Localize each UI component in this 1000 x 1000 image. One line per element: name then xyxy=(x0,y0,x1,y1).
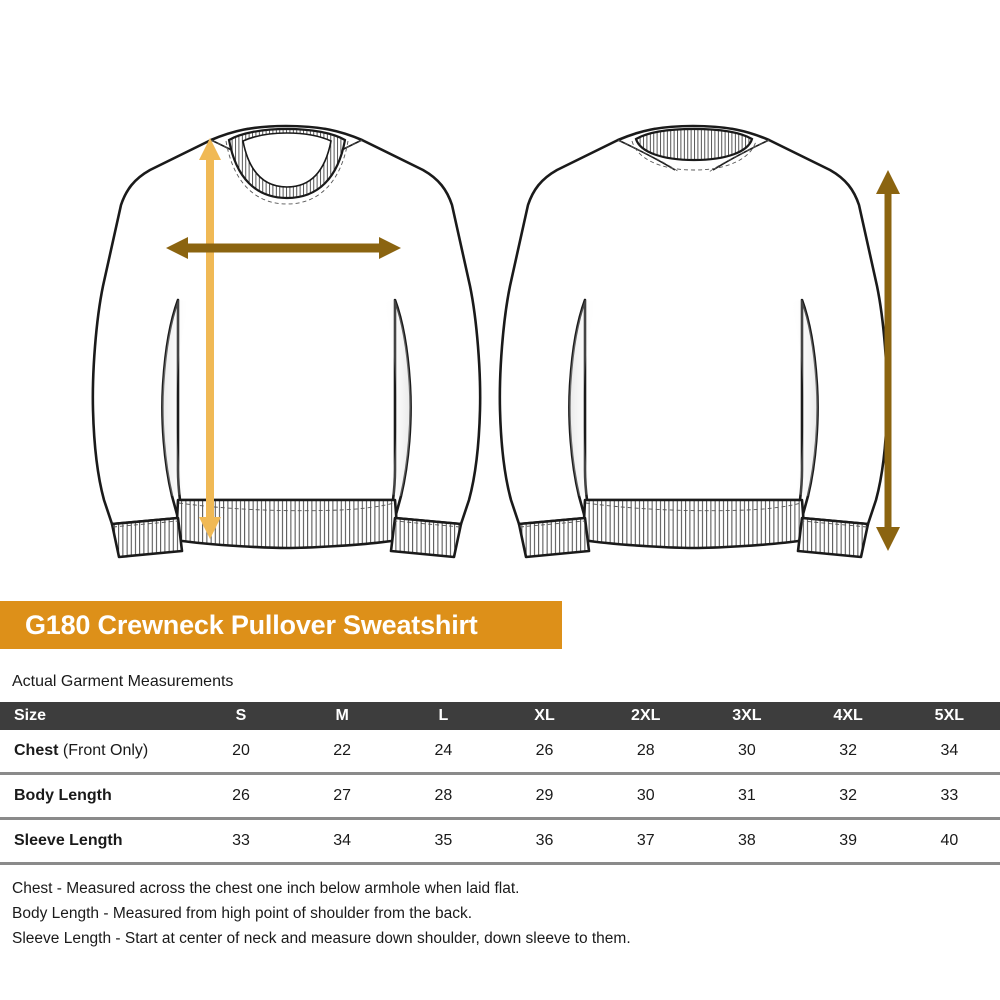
page-title: G180 Crewneck Pullover Sweatshirt xyxy=(0,610,478,641)
cell-body-2xl: 30 xyxy=(595,774,696,819)
note-body-length: Body Length - Measured from high point o… xyxy=(12,901,982,926)
sweatshirt-back-view xyxy=(500,126,887,557)
row-label-sleeve-length-name: Sleeve Length xyxy=(14,832,122,849)
sweatshirt-front-view xyxy=(93,126,480,557)
cell-sleeve-3xl: 38 xyxy=(696,819,797,864)
column-header-s: S xyxy=(190,702,291,730)
table-row: Chest (Front Only) 20 22 24 26 28 30 32 … xyxy=(0,730,1000,774)
cell-chest-3xl: 30 xyxy=(696,730,797,774)
column-header-xl: XL xyxy=(494,702,595,730)
cell-sleeve-2xl: 37 xyxy=(595,819,696,864)
cell-body-xl: 29 xyxy=(494,774,595,819)
cell-chest-2xl: 28 xyxy=(595,730,696,774)
measurement-instructions: Chest - Measured across the chest one in… xyxy=(12,876,982,951)
row-label-chest: Chest (Front Only) xyxy=(0,730,190,774)
garment-illustration xyxy=(0,0,1000,590)
row-label-chest-name: Chest xyxy=(14,742,58,759)
table-row: Sleeve Length 33 34 35 36 37 38 39 40 xyxy=(0,819,1000,864)
note-chest: Chest - Measured across the chest one in… xyxy=(12,876,982,901)
column-header-5xl: 5XL xyxy=(899,702,1000,730)
row-label-sleeve-length: Sleeve Length xyxy=(0,819,190,864)
column-header-3xl: 3XL xyxy=(696,702,797,730)
note-sleeve-length: Sleeve Length - Start at center of neck … xyxy=(12,926,982,951)
cell-chest-m: 22 xyxy=(292,730,393,774)
cell-sleeve-m: 34 xyxy=(292,819,393,864)
title-banner: G180 Crewneck Pullover Sweatshirt xyxy=(0,601,562,649)
cell-body-l: 28 xyxy=(393,774,494,819)
cell-chest-xl: 26 xyxy=(494,730,595,774)
cell-sleeve-4xl: 39 xyxy=(798,819,899,864)
table-header-row: Size S M L XL 2XL 3XL 4XL 5XL xyxy=(0,702,1000,730)
subtitle: Actual Garment Measurements xyxy=(12,673,233,691)
cell-sleeve-xl: 36 xyxy=(494,819,595,864)
row-label-chest-sub: (Front Only) xyxy=(58,742,148,759)
cell-body-5xl: 33 xyxy=(899,774,1000,819)
cell-chest-s: 20 xyxy=(190,730,291,774)
cell-body-m: 27 xyxy=(292,774,393,819)
table-row: Body Length 26 27 28 29 30 31 32 33 xyxy=(0,774,1000,819)
row-label-body-length: Body Length xyxy=(0,774,190,819)
size-chart-table: Size S M L XL 2XL 3XL 4XL 5XL Chest (Fro… xyxy=(0,702,1000,865)
cell-sleeve-l: 35 xyxy=(393,819,494,864)
cell-chest-4xl: 32 xyxy=(798,730,899,774)
cell-chest-l: 24 xyxy=(393,730,494,774)
column-header-m: M xyxy=(292,702,393,730)
cell-chest-5xl: 34 xyxy=(899,730,1000,774)
cell-sleeve-5xl: 40 xyxy=(899,819,1000,864)
column-header-l: L xyxy=(393,702,494,730)
column-header-4xl: 4XL xyxy=(798,702,899,730)
cell-sleeve-s: 33 xyxy=(190,819,291,864)
row-label-body-length-name: Body Length xyxy=(14,787,112,804)
cell-body-3xl: 31 xyxy=(696,774,797,819)
cell-body-s: 26 xyxy=(190,774,291,819)
column-header-2xl: 2XL xyxy=(595,702,696,730)
cell-body-4xl: 32 xyxy=(798,774,899,819)
column-header-size: Size xyxy=(0,702,190,730)
